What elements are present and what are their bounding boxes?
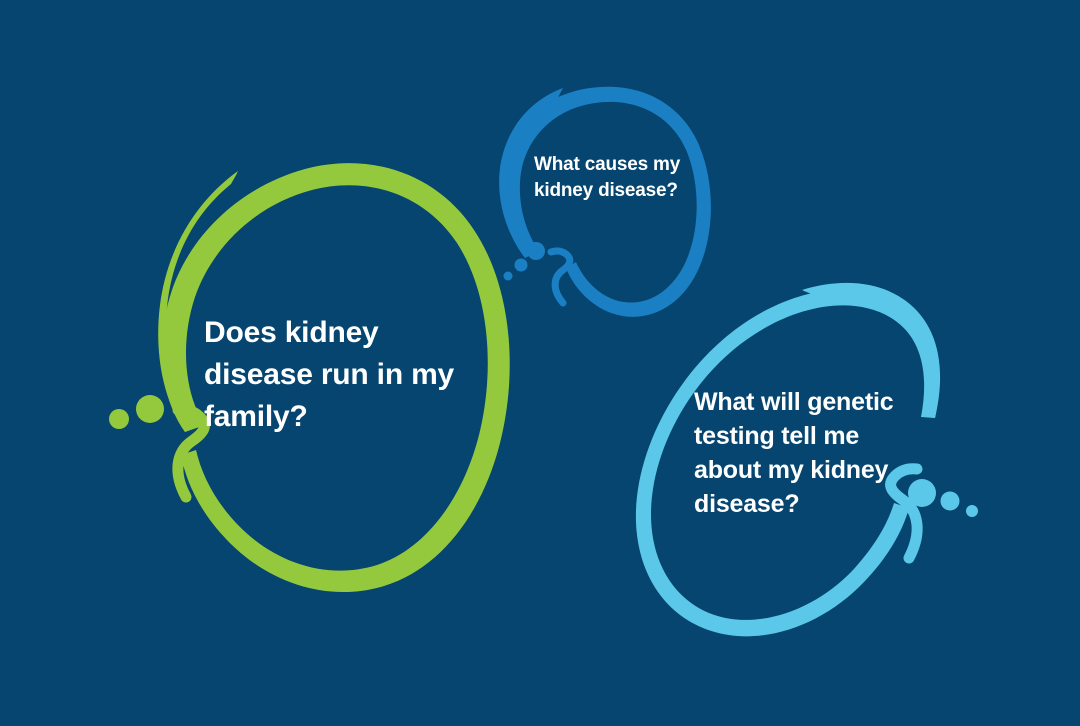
blue-bubble-dot-small [504, 272, 513, 281]
thought-bubble-light-blue [636, 283, 978, 636]
thought-bubble-green [109, 163, 510, 592]
green-bubble-dot-large [136, 395, 164, 423]
thought-bubble-blue [499, 87, 711, 317]
green-bubble-outline [162, 163, 510, 592]
blue-bubble-dot-large [527, 242, 545, 260]
light-blue-bubble-dot-medium [941, 492, 960, 511]
light-blue-bubble-dot-small [966, 505, 978, 517]
thought-bubbles-graphic [0, 0, 1080, 726]
light-blue-bubble-dot-large [908, 479, 936, 507]
blue-bubble-tail [551, 251, 570, 303]
light-blue-bubble-outline [636, 289, 939, 636]
blue-bubble-outline [502, 87, 711, 317]
green-bubble-dot-small [109, 409, 129, 429]
poster-canvas: Does kidney disease run in my family? Wh… [0, 0, 1080, 726]
blue-bubble-dot-medium [515, 259, 528, 272]
